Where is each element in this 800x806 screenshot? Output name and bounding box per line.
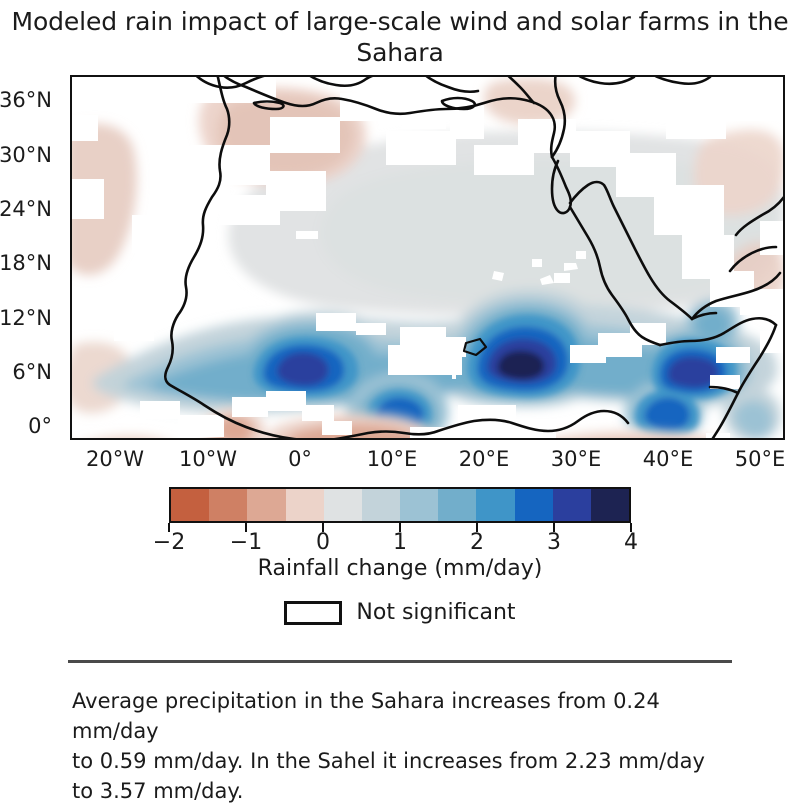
colorbar-segment-1 [209,489,247,521]
colorbar-label-1: 1 [360,530,440,555]
colorbar-segment-6 [400,489,438,521]
colorbar-segment-0 [171,489,209,521]
chart-root: Modeled rain impact of large-scale wind … [0,0,800,778]
legend: Not significant [0,600,800,625]
colorbar-segment-2 [247,489,285,521]
colorbar-segment-8 [476,489,514,521]
divider [68,660,732,663]
colorbar-label-4: 4 [591,530,671,555]
colorbar-label-2: 2 [437,530,517,555]
colorbar [169,487,631,523]
colorbar-label--1: −1 [206,530,286,555]
y-tick-24N: 24°N [0,197,52,221]
colorbar-segment-5 [362,489,400,521]
colorbar-segment-7 [438,489,476,521]
y-tick-6N: 6°N [0,360,52,384]
y-tick-0: 0° [0,414,52,438]
colorbar-label--2: −2 [129,530,209,555]
caption-line-2: to 0.59 mm/day. In the Sahel it increase… [72,746,732,776]
colorbar-title: Rainfall change (mm/day) [0,556,800,581]
caption-line-3: to 3.57 mm/day. [72,776,732,806]
colorbar-segment-3 [286,489,324,521]
caption: Average precipitation in the Sahara incr… [72,686,732,806]
y-tick-12N: 12°N [0,306,52,330]
caption-line-1: Average precipitation in the Sahara incr… [72,686,732,746]
colorbar-segment-11 [591,489,629,521]
colorbar-gradient [169,487,631,523]
colorbar-label-0: 0 [283,530,363,555]
colorbar-segment-9 [515,489,553,521]
colorbar-label-3: 3 [514,530,594,555]
y-tick-36N: 36°N [0,88,52,112]
not-significant-swatch [284,601,342,625]
colorbar-segment-4 [324,489,362,521]
not-significant-label: Not significant [356,600,515,625]
colorbar-segment-10 [553,489,591,521]
y-tick-30N: 30°N [0,143,52,167]
y-tick-18N: 18°N [0,251,52,275]
x-tick-50E: 50°E [700,447,800,471]
